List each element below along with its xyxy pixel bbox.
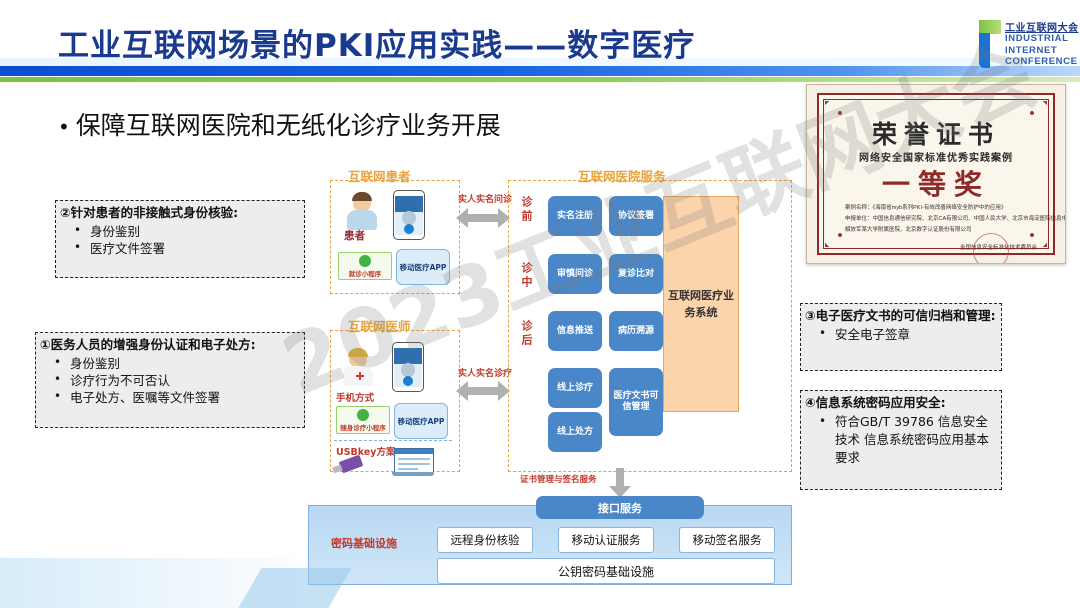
- callout-item: 医疗文件签署: [90, 240, 300, 257]
- callout-box-1: ①医务人员的增强身份认证和电子处方: 身份鉴别 诊疗行为不可否认 电子处方、医嘱…: [35, 332, 305, 428]
- service-box[interactable]: 线上处方: [548, 412, 602, 452]
- service-box[interactable]: 医疗文书可信管理: [609, 368, 663, 436]
- service-mobile-authentication[interactable]: 移动认证服务: [558, 527, 654, 553]
- patient-app-box: 移动医疗APP: [396, 249, 450, 285]
- hospital-section-label: 互联网医院服务: [578, 166, 666, 185]
- usbkey-label: USBkey方案: [336, 444, 396, 458]
- cert-service-label: 证书管理与签名服务: [520, 473, 597, 485]
- patient-phone-icon: [393, 190, 425, 240]
- doctor-method-label: 手机方式: [336, 390, 374, 404]
- pki-infrastructure-bar[interactable]: 公钥密码基础设施: [437, 558, 775, 584]
- cert-prize-level: 一等奖: [819, 163, 1053, 203]
- logo-mark-icon: [975, 20, 1001, 68]
- header-green-bar: [0, 77, 1080, 82]
- callout-item: 诊疗行为不可否认: [70, 372, 300, 389]
- patient-miniapp-icon: 就诊小程序: [338, 252, 392, 280]
- cert-detail-line-2: 申报单位：中国信息通信研究院、北京CA有限公司、中国人民大学、北京市海淀医院信息…: [845, 214, 1066, 222]
- service-box[interactable]: 信息推送: [548, 311, 602, 351]
- callout-list: 符合GB/T 39786 信息安全技术 信息系统密码应用基本要求: [801, 413, 1001, 471]
- doctor-app-box: 移动医疗APP: [394, 403, 448, 439]
- doctor-avatar: [341, 348, 375, 386]
- logo-english-name: INDUSTRIAL INTERNET CONFERENCE: [1005, 33, 1078, 68]
- service-mobile-signature[interactable]: 移动签名服务: [679, 527, 775, 553]
- lead-bullet-text: 保障互联网医院和无纸化诊疗业务开展: [76, 111, 501, 140]
- callout-box-2: ②针对患者的非接触式身份核验: 身份鉴别 医疗文件签署: [55, 200, 305, 278]
- lead-bullet: •保障互联网医院和无纸化诊疗业务开展: [58, 106, 501, 142]
- cert-detail-line-1: 案例名称：《海南省myb系列PKI-有效改善网络安全防护中的应用》: [845, 203, 1006, 211]
- patient-flow-arrow-label: 实人实名问诊: [458, 192, 512, 205]
- callout-title: ④信息系统密码应用安全:: [801, 391, 1001, 413]
- service-box[interactable]: 实名注册: [548, 196, 602, 236]
- callout-title: ①医务人员的增强身份认证和电子处方:: [36, 333, 304, 355]
- callout-list: 安全电子签章: [801, 326, 1001, 347]
- interface-service-box[interactable]: 接口服务: [536, 496, 704, 519]
- patient-section-label: 互联网患者: [348, 166, 411, 185]
- patient-miniapp-label: 就诊小程序: [339, 268, 391, 278]
- cert-title: 荣誉证书: [819, 115, 1053, 151]
- patient-flow-arrow-icon: [456, 205, 510, 231]
- business-system-box: 互联网医疗业务系统: [663, 196, 739, 412]
- cert-detail-line-3: 解放军某大学附属医院、北京数字认证股份有限公司: [845, 225, 972, 233]
- header-blue-bar: [0, 66, 1080, 76]
- doctor-miniapp-label: 随身诊疗小程序: [337, 422, 389, 432]
- callout-title: ②针对患者的非接触式身份核验:: [56, 201, 304, 223]
- cert-service-down-arrow-icon: [609, 468, 631, 498]
- conference-logo: 工业互联网大会 INDUSTRIAL INTERNET CONFERENCE: [975, 14, 1075, 74]
- service-box[interactable]: 审慎问诊: [548, 254, 602, 294]
- doctor-section-divider: [334, 440, 452, 441]
- slide-root: 工业互联网场景的PKI应用实践——数字医疗 工业互联网大会 INDUSTRIAL…: [0, 0, 1080, 608]
- phase-label-post: 诊后: [518, 320, 534, 364]
- doctor-flow-arrow-label: 实人实名诊疗: [458, 366, 512, 379]
- bullet-dot-icon: •: [58, 115, 70, 139]
- callout-item: 电子处方、医嘱等文件签署: [70, 389, 300, 406]
- logo-en-line-2: INTERNET: [1005, 45, 1078, 57]
- callout-box-4: ④信息系统密码应用安全: 符合GB/T 39786 信息安全技术 信息系统密码应…: [800, 390, 1002, 490]
- service-box[interactable]: 病历溯源: [609, 311, 663, 351]
- honor-certificate-image: 荣誉证书 网络安全国家标准优秀实践案例 一等奖 案例名称：《海南省myb系列PK…: [806, 84, 1066, 264]
- cert-subtitle: 网络安全国家标准优秀实践案例: [819, 149, 1053, 164]
- callout-item: 身份鉴别: [70, 355, 300, 372]
- callout-item: 身份鉴别: [90, 223, 300, 240]
- logo-en-line-3: CONFERENCE: [1005, 56, 1078, 68]
- doctor-section-label: 互联网医师: [348, 316, 411, 335]
- service-box[interactable]: 线上诊疗: [548, 368, 602, 408]
- patient-avatar-caption: 患者: [344, 228, 365, 243]
- callout-item: 安全电子签章: [835, 326, 997, 343]
- service-box[interactable]: 协议签署: [609, 196, 663, 236]
- callout-list: 身份鉴别 医疗文件签署: [56, 223, 304, 261]
- patient-avatar: [345, 192, 379, 230]
- phase-label-during: 诊中: [518, 262, 534, 306]
- doctor-flow-arrow-icon: [456, 378, 510, 404]
- callout-title: ③电子医疗文书的可信归档和管理:: [801, 304, 1001, 326]
- service-remote-identity-verification[interactable]: 远程身份核验: [437, 527, 533, 553]
- phase-label-pre: 诊前: [518, 196, 534, 240]
- doctor-miniapp-icon: 随身诊疗小程序: [336, 406, 390, 434]
- callout-box-3: ③电子医疗文书的可信归档和管理: 安全电子签章: [800, 303, 1002, 371]
- logo-en-line-1: INDUSTRIAL: [1005, 33, 1078, 45]
- callout-item: 符合GB/T 39786 信息安全技术 信息系统密码应用基本要求: [835, 413, 997, 467]
- laptop-icon: [392, 448, 434, 478]
- logo-chinese-name: 工业互联网大会: [1005, 19, 1079, 34]
- cert-seal-icon: [973, 233, 1009, 264]
- page-title: 工业互联网场景的PKI应用实践——数字医疗: [58, 20, 695, 65]
- crypto-infrastructure-label: 密码基础设施: [318, 535, 410, 551]
- doctor-phone-icon: [392, 342, 424, 392]
- service-box[interactable]: 复诊比对: [609, 254, 663, 294]
- callout-list: 身份鉴别 诊疗行为不可否认 电子处方、医嘱等文件签署: [36, 355, 304, 410]
